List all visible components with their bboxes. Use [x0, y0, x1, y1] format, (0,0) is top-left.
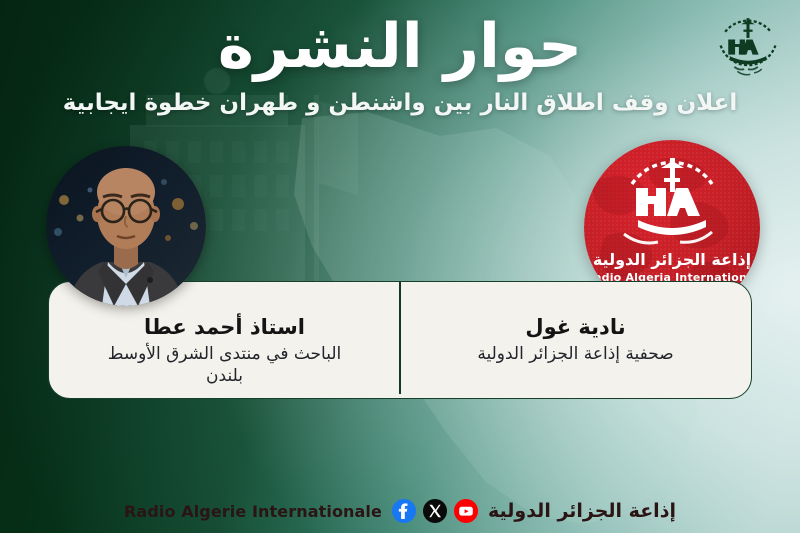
radio-algerienne-stamp-icon — [710, 6, 786, 82]
host-info: نادية غول صحفية إذاعة الجزائر الدولية — [400, 282, 751, 398]
youtube-icon[interactable] — [454, 499, 478, 523]
x-twitter-icon[interactable] — [423, 499, 447, 523]
broadcast-lower-third-graphic: حوار النشرة اعلان وقف اطلاق النار بين وا… — [0, 0, 800, 533]
program-subtitle: اعلان وقف اطلاق النار بين واشنطن و طهران… — [0, 77, 800, 118]
program-header: حوار النشرة اعلان وقف اطلاق النار بين وا… — [0, 0, 800, 118]
page-title: حوار النشرة — [0, 0, 800, 77]
social-links — [392, 499, 478, 523]
facebook-icon[interactable] — [392, 499, 416, 523]
footer-name-arabic: إذاعة الجزائر الدولية — [488, 500, 676, 522]
host-name: نادية غول — [525, 315, 625, 340]
guest-role: الباحث في منتدى الشرق الأوسط بلندن — [100, 340, 350, 388]
footer-name-english: Radio Algerie Internationale — [124, 502, 382, 521]
guest-name: استاذ أحمد عطا — [144, 315, 305, 340]
rai-name-arabic: إذاعة الجزائر الدولية — [584, 250, 760, 269]
guest-portrait-icon — [46, 146, 206, 306]
host-role: صحفية إذاعة الجزائر الدولية — [477, 340, 673, 366]
rai-monogram-icon — [584, 154, 760, 250]
footer-bar: Radio Algerie Internationale — [0, 489, 800, 533]
